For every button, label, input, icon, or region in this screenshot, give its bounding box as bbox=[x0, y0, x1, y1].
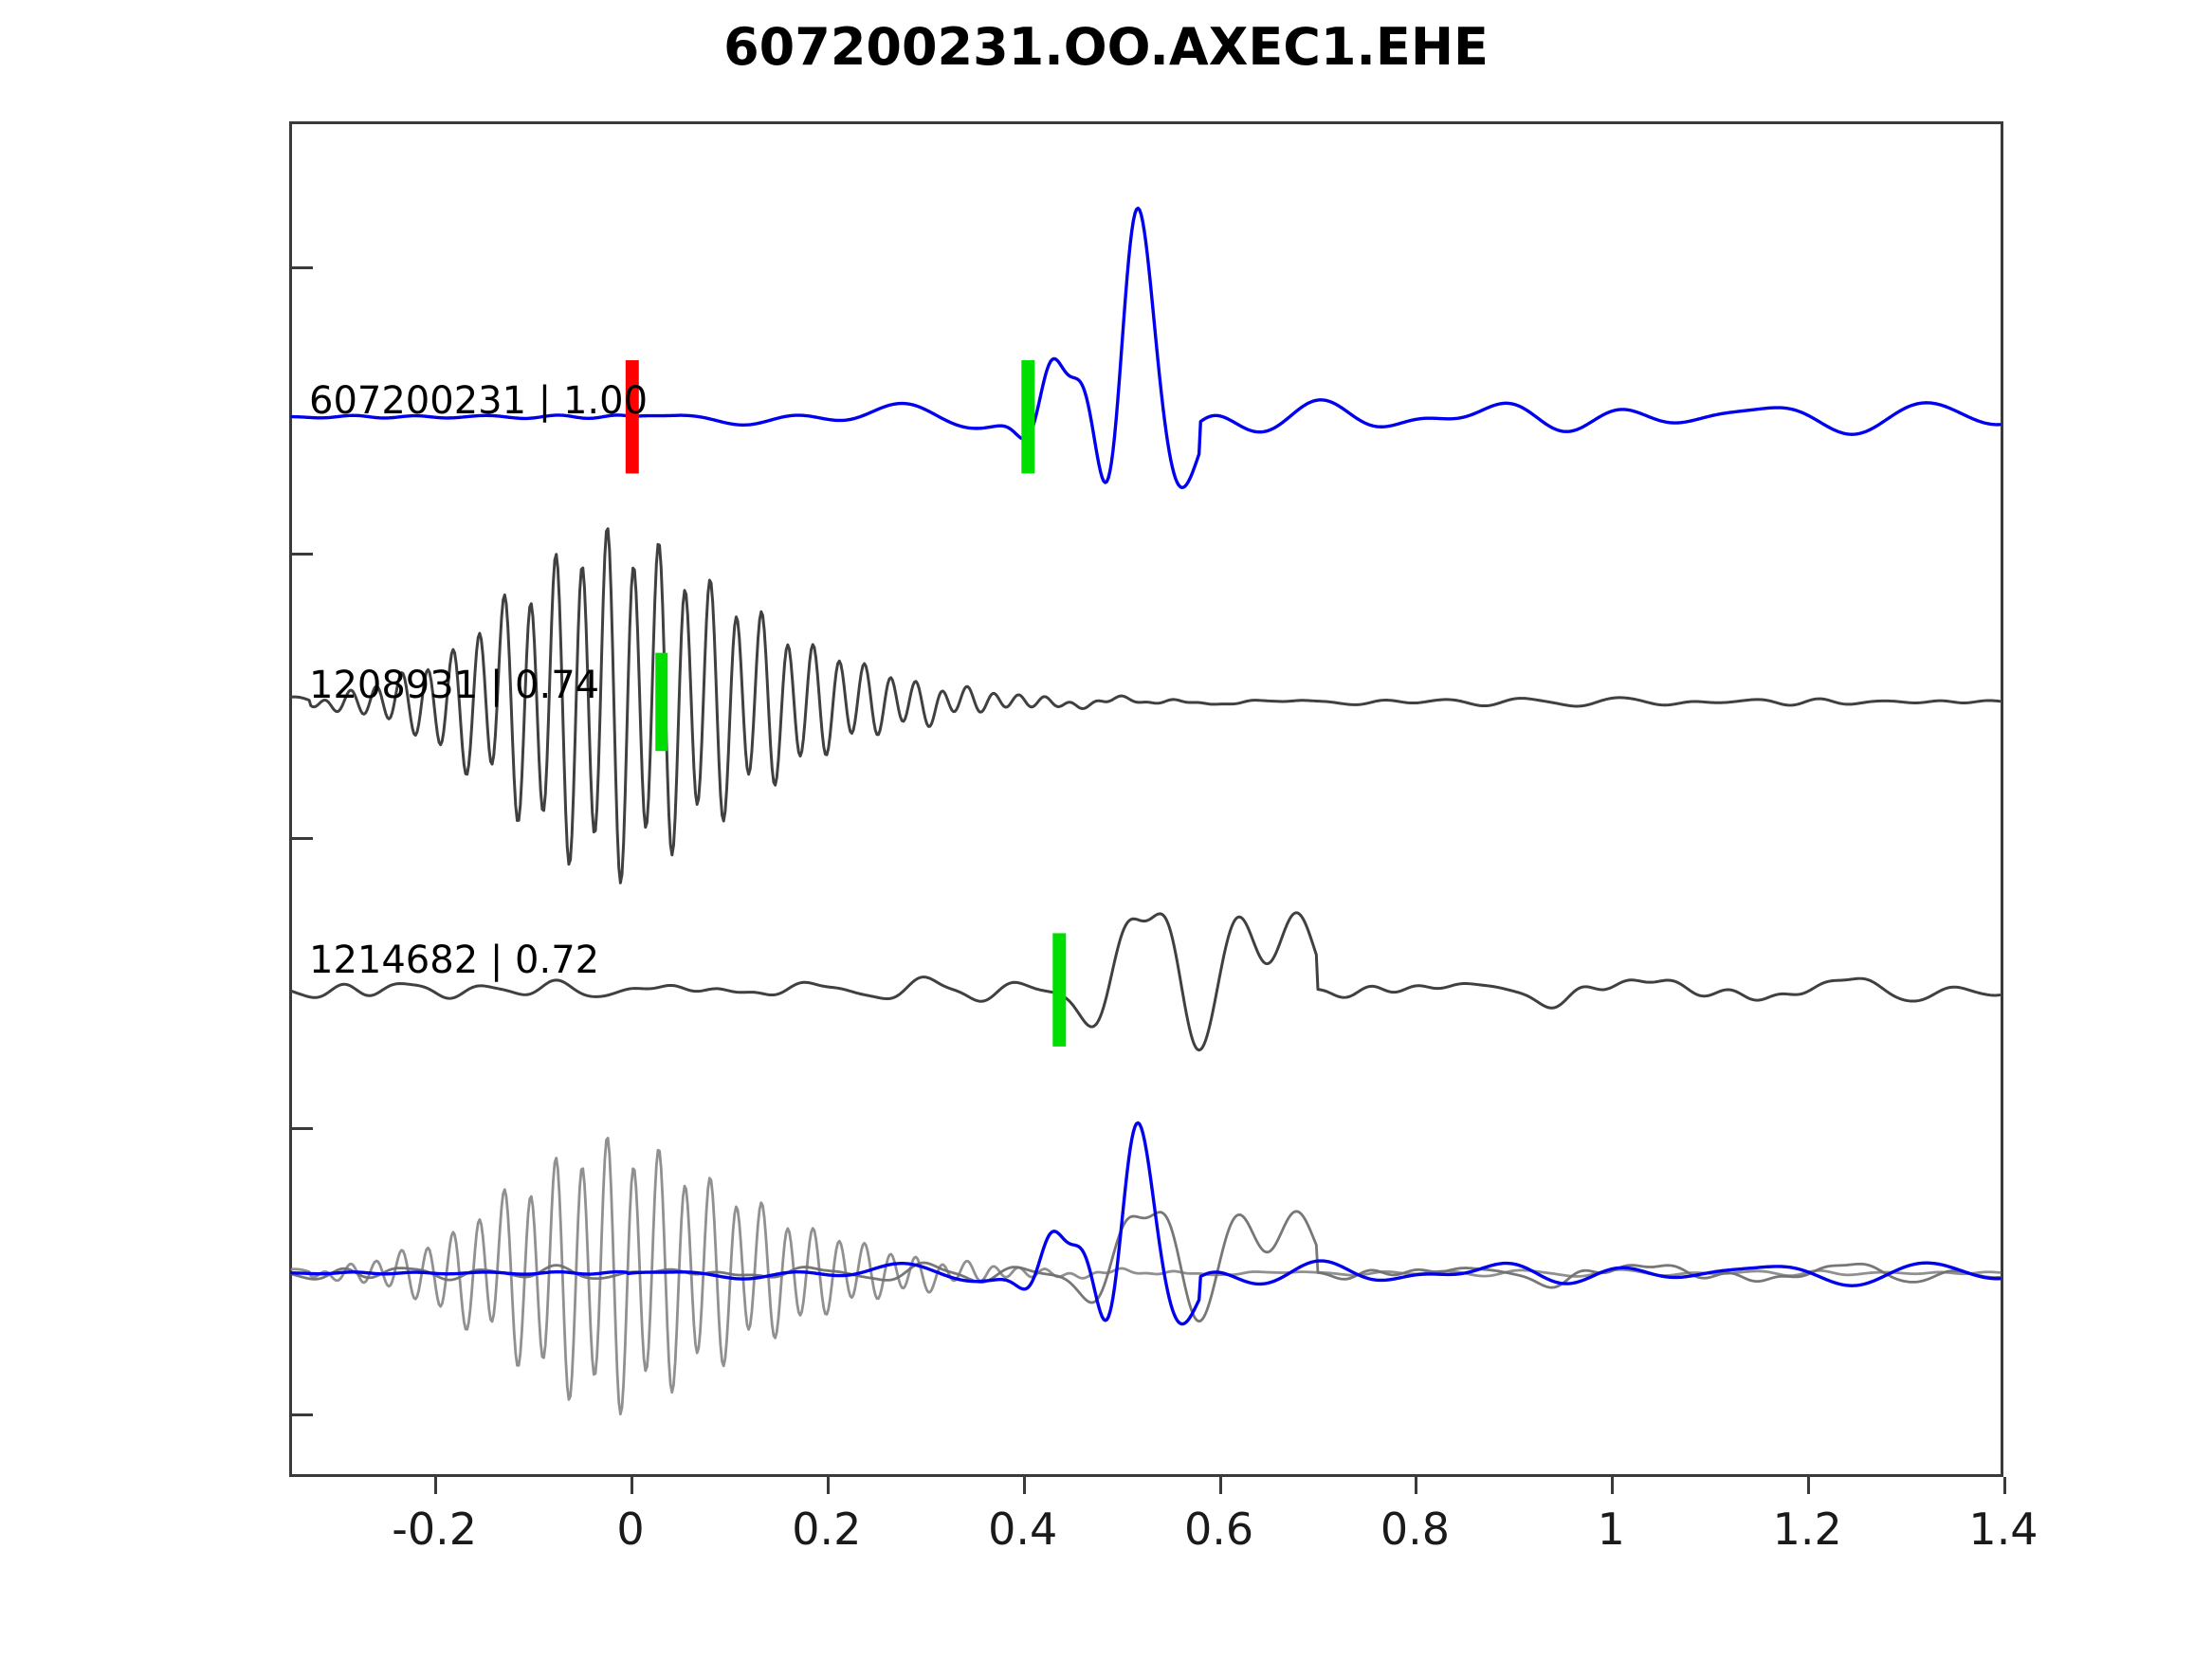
trace-label-2: 1214682 | 0.72 bbox=[309, 941, 599, 979]
x-tick-label-5: 0.8 bbox=[1380, 1504, 1450, 1555]
x-tick-label-1: 0 bbox=[616, 1504, 644, 1555]
x-tick-label-4: 0.6 bbox=[1184, 1504, 1253, 1555]
waveform-canvas bbox=[292, 124, 2001, 1474]
x-tick-label-2: 0.2 bbox=[792, 1504, 861, 1555]
plot-area: 607200231 | 1.00 1208931 | 0.74 1214682 … bbox=[289, 121, 2003, 1477]
pick-marker-s-trace0 bbox=[1021, 360, 1034, 473]
y-tick-mark-2 bbox=[292, 837, 313, 840]
x-tick-mark bbox=[434, 1477, 437, 1494]
pick-marker-s-trace1 bbox=[655, 653, 667, 752]
y-tick-mark-3 bbox=[292, 1127, 313, 1130]
x-tick-mark bbox=[1219, 1477, 1222, 1494]
x-tick-mark bbox=[1415, 1477, 1417, 1494]
figure-title: 607200231.OO.AXEC1.EHE bbox=[0, 17, 2212, 77]
y-tick-mark-1 bbox=[292, 553, 313, 556]
x-tick-mark bbox=[827, 1477, 830, 1494]
trace-label-0: 607200231 | 1.00 bbox=[309, 382, 648, 420]
pick-markers bbox=[292, 124, 2001, 1474]
trace-label-1: 1208931 | 0.74 bbox=[309, 666, 599, 704]
y-tick-mark-0 bbox=[292, 266, 313, 269]
x-tick-label-8: 1.4 bbox=[1968, 1504, 2038, 1555]
x-tick-label-0: -0.2 bbox=[392, 1504, 477, 1555]
x-tick-mark bbox=[1611, 1477, 1614, 1494]
x-tick-mark bbox=[1807, 1477, 1810, 1494]
x-tick-label-3: 0.4 bbox=[988, 1504, 1057, 1555]
x-tick-mark bbox=[631, 1477, 633, 1494]
x-tick-label-7: 1.2 bbox=[1773, 1504, 1842, 1555]
x-tick-mark bbox=[1023, 1477, 1026, 1494]
x-tick-mark bbox=[2003, 1477, 2006, 1494]
pick-marker-s-trace2 bbox=[1052, 933, 1066, 1046]
y-tick-mark-4 bbox=[292, 1413, 313, 1416]
x-tick-label-6: 1 bbox=[1598, 1504, 1625, 1555]
seismogram-figure: 607200231.OO.AXEC1.EHE 607200231 | 1.00 … bbox=[0, 0, 2212, 1659]
x-axis: -0.200.20.40.60.811.21.4 bbox=[289, 1477, 2003, 1600]
